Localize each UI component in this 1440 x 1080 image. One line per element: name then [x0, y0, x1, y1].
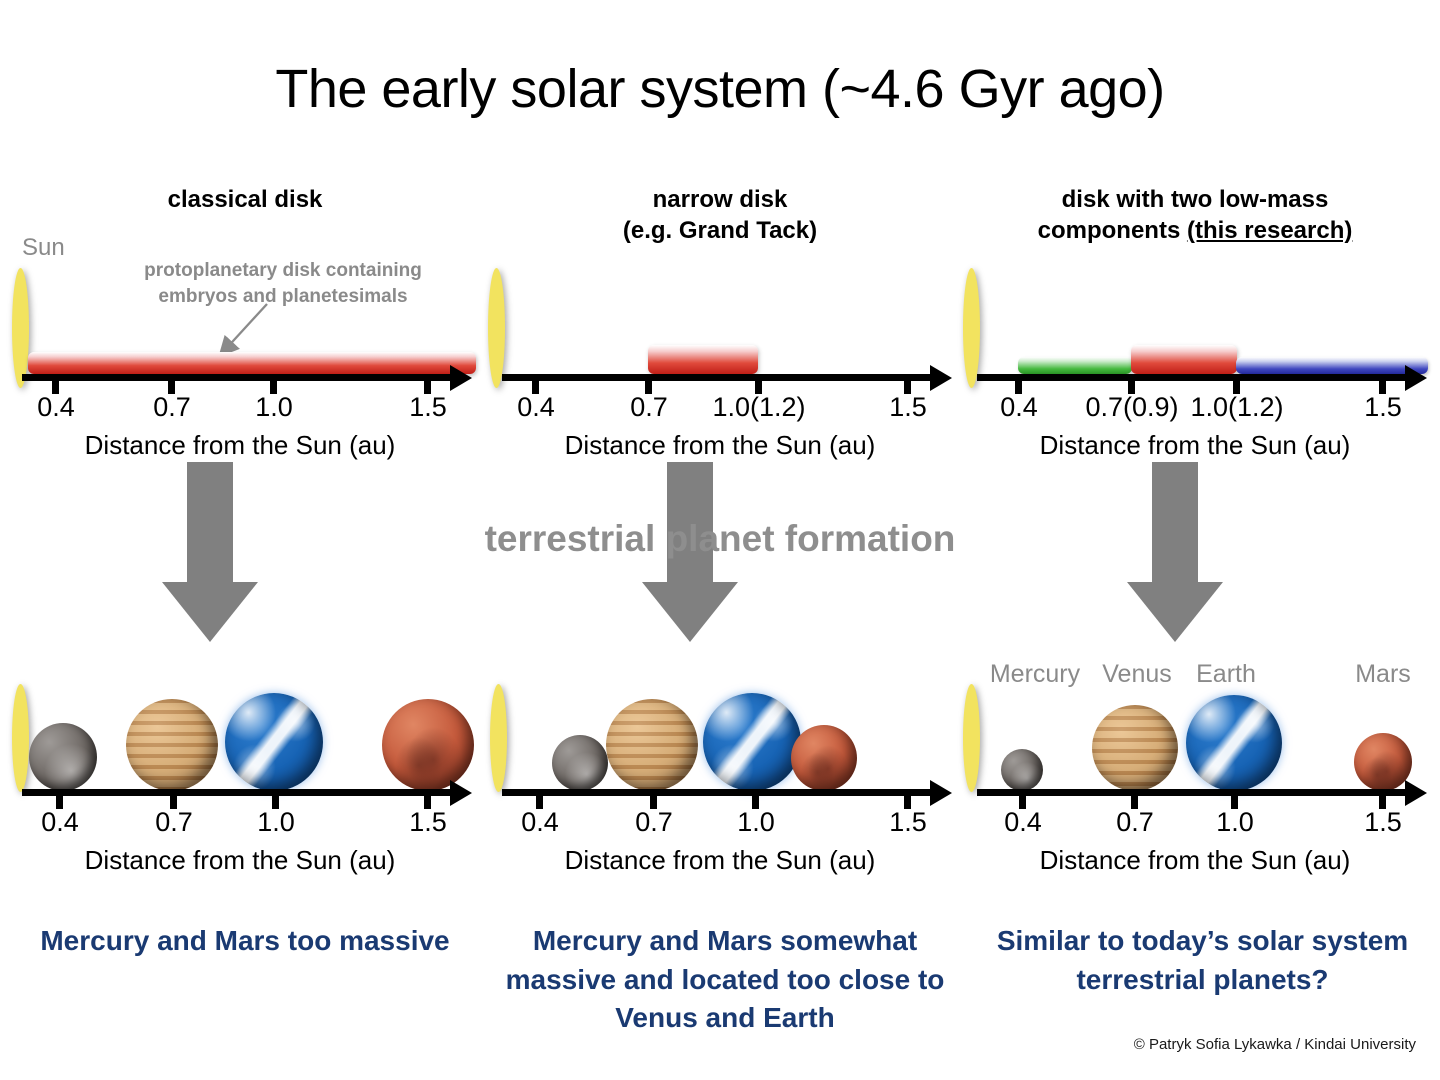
axis-bottom-col3: 0.4 0.7 1.0 1.5 Distance from the Sun (a… — [955, 789, 1425, 909]
sun-sliver-col1 — [12, 268, 29, 388]
disk-bar-blue-col3 — [1236, 357, 1428, 374]
axis-tick-label: 0.4 — [521, 807, 559, 838]
planet-earth-col1 — [225, 693, 323, 791]
axis-bottom-col1: 0.4 0.7 1.0 1.5 Distance from the Sun (a… — [0, 789, 470, 909]
formation-arrow-col1 — [145, 462, 275, 642]
axis-tick-label: 0.7(0.9) — [1085, 392, 1178, 423]
planet-venus-col1 — [126, 699, 218, 791]
axis-tick-label: 0.4 — [37, 392, 75, 423]
axis-tick-label: 0.7 — [1116, 807, 1154, 838]
axis-caption: Distance from the Sun (au) — [1040, 430, 1351, 461]
column-heading-classical: classical disk — [20, 185, 470, 216]
formation-label: terrestrial planet formation — [380, 518, 1060, 560]
disk-bar-red-col1 — [28, 352, 476, 374]
column-heading-two-component: disk with two low-mass components (this … — [960, 185, 1430, 246]
conclusion-two-component: Similar to today’s solar system terrestr… — [965, 922, 1440, 999]
disk-bar-red-col2 — [648, 345, 758, 374]
axis-tick-label: 1.5 — [1364, 392, 1402, 423]
axis-caption: Distance from the Sun (au) — [1040, 845, 1351, 876]
conclusion-classical: Mercury and Mars too massive — [5, 922, 485, 961]
axis-tick-label: 1.0 — [257, 807, 295, 838]
axis-caption: Distance from the Sun (au) — [565, 430, 876, 461]
planet-mercury-col2 — [552, 735, 608, 791]
sun-sliver-col2 — [488, 268, 505, 388]
planet-label-mercury: Mercury — [990, 660, 1080, 689]
axis-tick-label: 1.0 — [255, 392, 293, 423]
planet-mercury-col1 — [29, 723, 97, 791]
column-heading-emphasis: (this research) — [1187, 217, 1352, 244]
planet-earth-col2 — [703, 693, 801, 791]
sun-sliver-col3-bottom — [963, 684, 980, 792]
sun-label: Sun — [22, 234, 65, 262]
axis-caption: Distance from the Sun (au) — [85, 845, 396, 876]
column-heading-narrow: narrow disk (e.g. Grand Tack) — [495, 185, 945, 246]
planet-mars-col2 — [791, 725, 857, 791]
planet-venus-col2 — [606, 699, 698, 791]
axis-caption: Distance from the Sun (au) — [565, 845, 876, 876]
column-heading-line1: narrow disk — [495, 185, 945, 216]
disk-bar-red-col3 — [1131, 345, 1237, 374]
column-heading-line2: components (this research) — [960, 216, 1430, 247]
axis-tick-label: 0.4 — [41, 807, 79, 838]
axis-tick-label: 1.5 — [409, 392, 447, 423]
axis-tick-label: 1.0 — [737, 807, 775, 838]
planet-label-mars: Mars — [1355, 660, 1411, 689]
column-heading-line1: classical disk — [168, 186, 323, 213]
axis-tick-label: 0.4 — [1000, 392, 1038, 423]
axis-caption: Distance from the Sun (au) — [85, 430, 396, 461]
sun-sliver-col1-bottom — [12, 684, 29, 792]
axis-tick-label: 0.7 — [155, 807, 193, 838]
axis-tick-label: 0.7 — [635, 807, 673, 838]
axis-tick-label: 1.5 — [1364, 807, 1402, 838]
planet-label-venus: Venus — [1102, 660, 1172, 689]
planet-mercury-col3 — [1001, 749, 1043, 791]
axis-bottom-col2: 0.4 0.7 1.0 1.5 Distance from the Sun (a… — [480, 789, 950, 909]
copyright-notice: © Patryk Sofia Lykawka / Kindai Universi… — [1134, 1036, 1416, 1053]
axis-tick-label: 1.5 — [889, 392, 927, 423]
planet-label-earth: Earth — [1196, 660, 1256, 689]
sun-sliver-col3 — [963, 268, 980, 388]
axis-tick-label: 0.7 — [153, 392, 191, 423]
column-heading-line2: (e.g. Grand Tack) — [495, 216, 945, 247]
disk-bar-green-col3 — [1018, 357, 1132, 374]
formation-arrow-col3 — [1110, 462, 1240, 642]
axis-tick-label: 1.5 — [409, 807, 447, 838]
page-title: The early solar system (~4.6 Gyr ago) — [0, 58, 1440, 120]
planet-mars-col1 — [382, 699, 474, 791]
axis-tick-label: 1.0(1.2) — [712, 392, 805, 423]
conclusion-narrow: Mercury and Mars somewhat massive and lo… — [485, 922, 965, 1038]
axis-tick-label: 1.5 — [889, 807, 927, 838]
axis-tick-label: 1.0 — [1216, 807, 1254, 838]
axis-tick-label: 1.0(1.2) — [1190, 392, 1283, 423]
sun-sliver-col2-bottom — [490, 684, 507, 792]
planet-venus-col3 — [1092, 705, 1178, 791]
axis-tick-label: 0.7 — [630, 392, 668, 423]
axis-tick-label: 0.4 — [1004, 807, 1042, 838]
axis-tick-label: 0.4 — [517, 392, 555, 423]
planet-mars-col3 — [1354, 733, 1412, 791]
column-heading-line1: disk with two low-mass — [960, 185, 1430, 216]
planet-earth-col3 — [1186, 695, 1282, 791]
